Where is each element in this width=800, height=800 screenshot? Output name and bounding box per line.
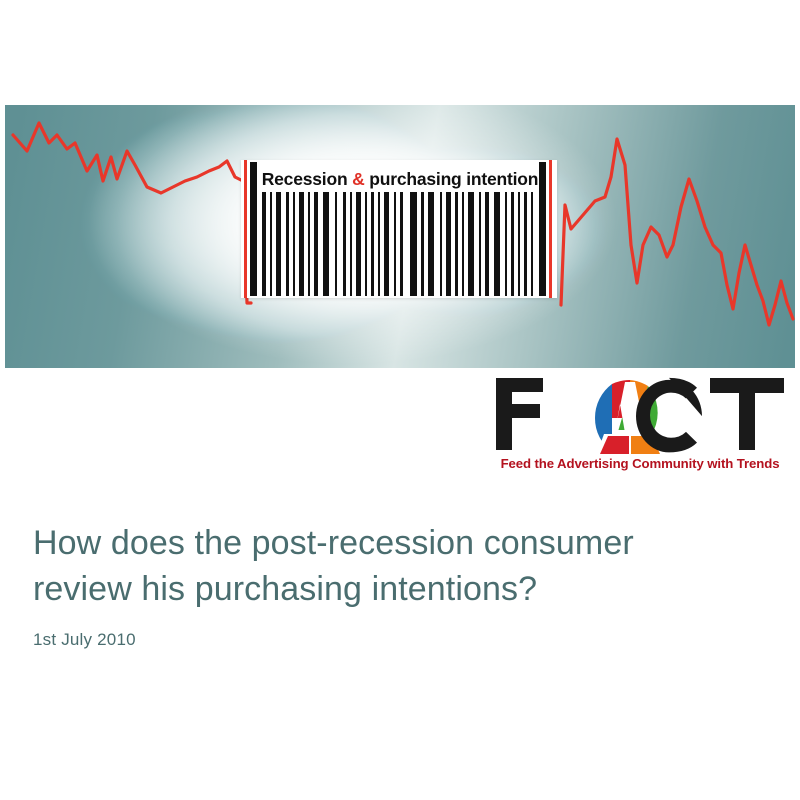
barcode-bar [371, 192, 374, 296]
barcode-title-suffix: purchasing intention [365, 169, 539, 189]
page-title-line-1: How does the post-recession consumer [33, 524, 634, 562]
barcode-title-prefix: Recession [262, 169, 352, 189]
barcode-bar [468, 192, 474, 296]
barcode-bar [378, 192, 380, 296]
barcode-bar [270, 192, 272, 296]
barcode-bar [299, 192, 304, 296]
barcode-bar [494, 192, 500, 296]
barcode-bar [524, 192, 527, 296]
barcode-bar [410, 192, 417, 296]
barcode-bar [293, 192, 295, 296]
barcode-bar [276, 192, 281, 296]
barcode-bar [511, 192, 514, 296]
barcode-bar [531, 192, 533, 296]
barcode-bar [440, 192, 442, 296]
barcode-guard-left [244, 160, 247, 298]
barcode-bar [505, 192, 507, 296]
barcode-bar [343, 192, 346, 296]
barcode-bar [455, 192, 458, 296]
barcode-bar [262, 192, 266, 296]
barcode-bar [446, 192, 451, 296]
slide-canvas: Recession & purchasing intention [0, 0, 800, 800]
page-title: How does the post-recession consumer rev… [33, 520, 763, 612]
fact-tagline: Feed the Advertising Community with Tren… [492, 456, 788, 471]
barcode-bars [250, 192, 548, 296]
barcode-bar [400, 192, 403, 296]
barcode-bar [485, 192, 489, 296]
barcode-bar [462, 192, 464, 296]
barcode-bar [350, 192, 352, 296]
barcode-bar [421, 192, 424, 296]
barcode-bar [518, 192, 520, 296]
barcode-bar [394, 192, 396, 296]
barcode-guard-right [549, 160, 552, 298]
barcode-title: Recession & purchasing intention [259, 166, 541, 192]
barcode-bar [286, 192, 289, 296]
barcode-panel: Recession & purchasing intention [241, 160, 557, 298]
fact-wordmark-icon [492, 372, 788, 456]
slide-date: 1st July 2010 [33, 630, 763, 650]
barcode-bar [356, 192, 361, 296]
title-block: How does the post-recession consumer rev… [33, 520, 763, 650]
barcode-bar [384, 192, 389, 296]
barcode-bar [314, 192, 318, 296]
barcode-bar [308, 192, 310, 296]
barcode-bar [365, 192, 367, 296]
barcode-bar [479, 192, 481, 296]
barcode-bar-edge-right [539, 162, 546, 296]
barcode-bar-edge-left [250, 162, 257, 296]
barcode-bar [428, 192, 434, 296]
barcode-bar [335, 192, 337, 296]
fact-logo: Feed the Advertising Community with Tren… [492, 372, 788, 478]
page-title-line-2: review his purchasing intentions? [33, 570, 537, 608]
barcode-bar [323, 192, 329, 296]
barcode-title-ampersand: & [352, 169, 364, 189]
